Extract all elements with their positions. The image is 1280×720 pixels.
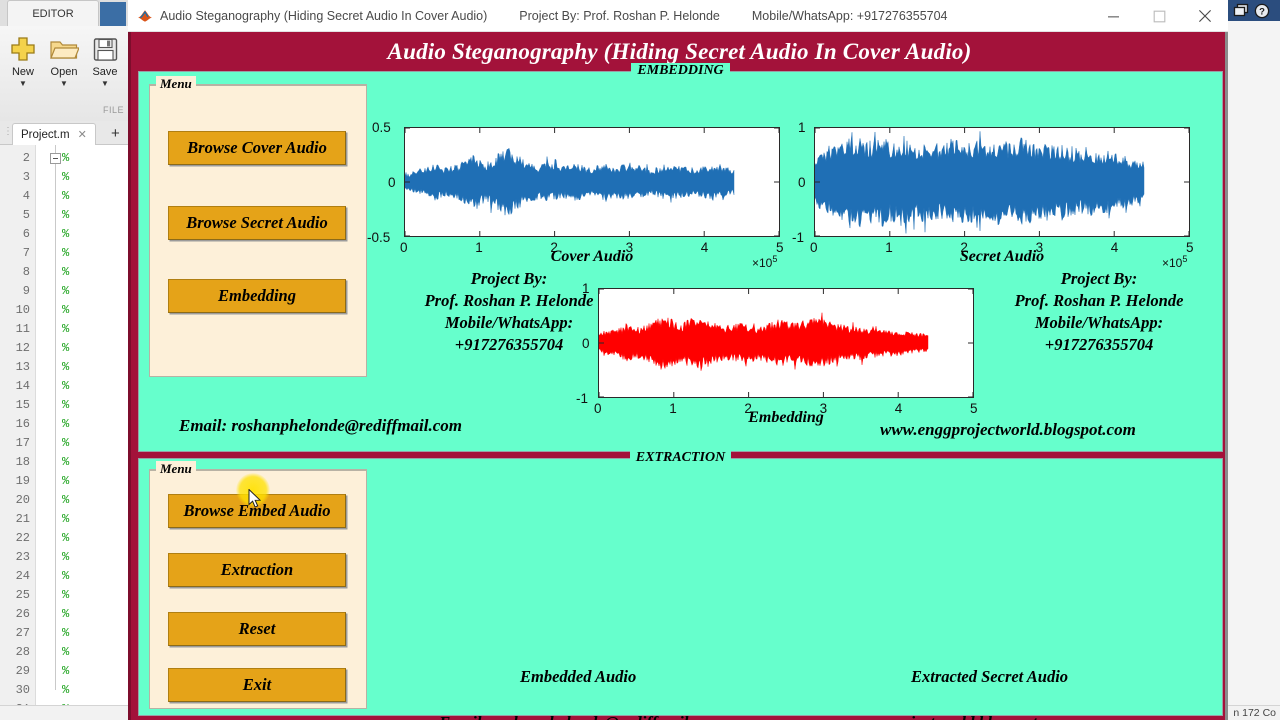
window-title-contact: Mobile/WhatsApp: +917276355704 — [752, 9, 948, 23]
line-number: 15 — [0, 396, 30, 415]
line-number: 18 — [0, 453, 30, 472]
comment-glyph: % — [62, 681, 69, 700]
browse-cover-audio-label: Browse Cover Audio — [187, 138, 327, 158]
comment-glyph: % — [62, 358, 69, 377]
line-number: 23 — [0, 548, 30, 567]
code-line: 3% — [0, 168, 130, 187]
comment-glyph: % — [62, 339, 69, 358]
ribbon-open-label: Open — [43, 66, 85, 79]
window-titlebar[interactable]: Audio Steganography (Hiding Secret Audio… — [128, 0, 1228, 32]
line-number: 24 — [0, 567, 30, 586]
comment-glyph: % — [62, 263, 69, 282]
secret-audio-title: Secret Audio — [814, 248, 1190, 266]
ribbon-tab-accent — [100, 2, 126, 26]
comment-glyph: % — [62, 301, 69, 320]
credit-block-left: Project By: Prof. Roshan P. Helonde Mobi… — [379, 268, 639, 356]
ide-right-rail — [1223, 21, 1280, 705]
window-chrome-strip: ? — [1223, 0, 1280, 21]
credit-block-right: Project By: Prof. Roshan P. Helonde Mobi… — [969, 268, 1229, 356]
credit-left-line-2: Prof. Roshan P. Helonde — [379, 290, 639, 312]
embedding-button[interactable]: Embedding — [168, 279, 346, 313]
extraction-menu-label: Menu — [156, 461, 196, 477]
comment-glyph: % — [62, 225, 69, 244]
chevron-down-icon[interactable]: ▼ — [2, 79, 44, 88]
matlab-icon — [137, 8, 153, 24]
embedding-menu-box: Menu Browse Cover Audio Browse Secret Au… — [149, 84, 367, 377]
reset-button[interactable]: Reset — [168, 612, 346, 646]
document-tab-label: Project.m — [21, 129, 70, 141]
panel-extraction: EXTRACTION Menu Browse Embed Audio Extra… — [138, 458, 1223, 716]
comment-glyph: % — [62, 491, 69, 510]
secret-ytick-mid: 0 — [798, 175, 806, 190]
comment-glyph: % — [62, 472, 69, 491]
line-number: 4 — [0, 187, 30, 206]
exit-button-label: Exit — [243, 675, 271, 695]
waveform-plot — [599, 289, 973, 397]
close-icon[interactable] — [1182, 0, 1228, 32]
chevron-down-icon[interactable]: ▼ — [84, 79, 126, 88]
reset-button-label: Reset — [239, 619, 276, 639]
browse-secret-audio-label: Browse Secret Audio — [186, 213, 327, 233]
line-number: 27 — [0, 624, 30, 643]
comment-glyph: % — [62, 434, 69, 453]
line-number: 7 — [0, 244, 30, 263]
line-number: 29 — [0, 662, 30, 681]
line-number: 16 — [0, 415, 30, 434]
cover-ytick-top: 0.5 — [372, 120, 391, 135]
embedding-menu-label: Menu — [156, 76, 196, 92]
line-number: 8 — [0, 263, 30, 282]
statusbar-text: n 172 Co — [1233, 707, 1276, 719]
ribbon-new-button[interactable]: New ▼ — [2, 32, 44, 88]
fold-toggle-icon[interactable] — [50, 153, 61, 164]
comment-glyph: % — [62, 187, 69, 206]
comment-glyph: % — [62, 168, 69, 187]
extraction-website: www.enggprojectworld.blogspot.com — [815, 713, 1071, 720]
window-controls — [1090, 0, 1228, 32]
cover-ytick-mid: 0 — [388, 175, 396, 190]
comment-glyph: % — [62, 453, 69, 472]
line-number: 11 — [0, 320, 30, 339]
browse-secret-audio-button[interactable]: Browse Secret Audio — [168, 206, 346, 240]
cover-audio-title: Cover Audio — [404, 248, 780, 266]
line-number: 22 — [0, 529, 30, 548]
line-number: 30 — [0, 681, 30, 700]
secret-ytick-top: 1 — [798, 120, 806, 135]
embedding-email: Email: roshanphelonde@rediffmail.com — [179, 416, 462, 436]
embedded-audio-label: Embedded Audio — [520, 667, 636, 687]
comment-glyph: % — [62, 567, 69, 586]
ribbon-group-label: FILE — [0, 105, 124, 115]
comment-glyph: % — [62, 415, 69, 434]
ribbon-new-label: New — [2, 66, 44, 79]
restore-window-icon[interactable] — [1233, 3, 1250, 18]
comment-glyph: % — [62, 643, 69, 662]
code-line: 17% — [0, 434, 130, 453]
comment-glyph: % — [62, 282, 69, 301]
chevron-down-icon[interactable]: ▼ — [43, 79, 85, 88]
ribbon-open-button[interactable]: Open ▼ — [43, 32, 85, 88]
panel-extraction-title: EXTRACTION — [139, 450, 1222, 466]
maximize-icon[interactable] — [1136, 0, 1182, 32]
line-number: 25 — [0, 586, 30, 605]
comment-glyph: % — [62, 548, 69, 567]
chart-cover-audio — [404, 127, 780, 237]
line-number: 10 — [0, 301, 30, 320]
code-line: 8% — [0, 263, 130, 282]
line-number: 9 — [0, 282, 30, 301]
comment-glyph: % — [62, 320, 69, 339]
ribbon-save-button[interactable]: Save ▼ — [84, 32, 126, 88]
figure-body: Audio Steganography (Hiding Secret Audio… — [128, 32, 1228, 720]
code-line: 9% — [0, 282, 130, 301]
line-number: 6 — [0, 225, 30, 244]
extraction-menu-box: Menu Browse Embed Audio Extraction Reset… — [149, 469, 367, 709]
browse-embed-audio-label: Browse Embed Audio — [184, 501, 331, 521]
page-title: Audio Steganography (Hiding Secret Audio… — [388, 39, 972, 65]
extracted-secret-audio-label: Extracted Secret Audio — [911, 667, 1068, 687]
credit-right-line-1: Project By: — [969, 268, 1229, 290]
plus-icon — [2, 32, 44, 66]
line-number: 28 — [0, 643, 30, 662]
cover-ytick-bot: -0.5 — [367, 230, 390, 245]
chart-embedding — [598, 288, 974, 398]
code-line: 16% — [0, 415, 130, 434]
code-line: 18% — [0, 453, 130, 472]
code-line: 5% — [0, 206, 130, 225]
embed-ytick-bot: -1 — [576, 391, 588, 406]
waveform-plot — [815, 128, 1189, 236]
window-title: Audio Steganography (Hiding Secret Audio… — [160, 9, 487, 23]
code-line: 12% — [0, 339, 130, 358]
waveform-plot — [405, 128, 779, 236]
code-line: 25% — [0, 586, 130, 605]
browse-embed-audio-button[interactable]: Browse Embed Audio — [168, 494, 346, 528]
code-line: 26% — [0, 605, 130, 624]
comment-glyph: % — [62, 624, 69, 643]
code-line: 23% — [0, 548, 130, 567]
code-line: 6% — [0, 225, 130, 244]
tab-editor-label: EDITOR — [32, 8, 73, 20]
code-line: 15% — [0, 396, 130, 415]
panel-embedding-title: EMBEDDING — [139, 63, 1222, 79]
window-title-author: Project By: Prof. Roshan P. Helonde — [519, 9, 720, 23]
minimize-icon[interactable] — [1090, 0, 1136, 32]
cover-x-exponent: ×105 — [752, 254, 777, 270]
code-line: 20% — [0, 491, 130, 510]
credit-right-line-3: Mobile/WhatsApp: — [969, 312, 1229, 334]
panel-embedding: EMBEDDING Menu Browse Cover Audio Browse… — [138, 71, 1223, 452]
code-line: 19% — [0, 472, 130, 491]
svg-text:?: ? — [1259, 6, 1265, 17]
line-number: 5 — [0, 206, 30, 225]
comment-glyph: % — [62, 529, 69, 548]
comment-glyph: % — [62, 377, 69, 396]
chart-secret-audio — [814, 127, 1190, 237]
credit-right-line-4: +917276355704 — [969, 334, 1229, 356]
extraction-button[interactable]: Extraction — [168, 553, 346, 587]
folder-icon — [43, 32, 85, 66]
line-number: 12 — [0, 339, 30, 358]
line-number: 17 — [0, 434, 30, 453]
code-line: 27% — [0, 624, 130, 643]
document-tab-project-m[interactable]: Project.m ✕ — [12, 123, 96, 145]
extraction-button-label: Extraction — [221, 560, 293, 580]
embedding-website: www.enggprojectworld.blogspot.com — [880, 420, 1136, 440]
tab-editor[interactable]: EDITOR — [7, 0, 99, 26]
browse-cover-audio-button[interactable]: Browse Cover Audio — [168, 131, 346, 165]
code-line: 10% — [0, 301, 130, 320]
code-line: 11% — [0, 320, 130, 339]
help-icon[interactable]: ? — [1254, 3, 1270, 19]
line-number: 13 — [0, 358, 30, 377]
close-icon[interactable]: ✕ — [78, 128, 87, 141]
credit-left-line-4: +917276355704 — [379, 334, 639, 356]
comment-glyph: % — [62, 396, 69, 415]
line-number: 2 — [0, 149, 30, 168]
comment-glyph: % — [62, 605, 69, 624]
embedding-button-label: Embedding — [218, 286, 296, 306]
code-line: 2% — [0, 149, 130, 168]
code-line: 22% — [0, 529, 130, 548]
screen-root: EDITOR New ▼ — [0, 0, 1280, 720]
comment-glyph: % — [62, 206, 69, 225]
comment-glyph: % — [62, 662, 69, 681]
code-line: 30% — [0, 681, 130, 700]
credit-left-line-3: Mobile/WhatsApp: — [379, 312, 639, 334]
comment-glyph: % — [62, 586, 69, 605]
code-line: 24% — [0, 567, 130, 586]
extraction-email: Email: roshanphelonde@rediffmail.com — [439, 713, 722, 720]
code-line: 13% — [0, 358, 130, 377]
code-line: 28% — [0, 643, 130, 662]
code-line: 29% — [0, 662, 130, 681]
comment-glyph: % — [62, 510, 69, 529]
add-tab-icon[interactable]: + — [111, 125, 120, 142]
ribbon-save-label: Save — [84, 66, 126, 79]
credit-left-line-1: Project By: — [379, 268, 639, 290]
exit-button[interactable]: Exit — [168, 668, 346, 702]
floppy-disk-icon — [84, 32, 126, 66]
application-window: Audio Steganography (Hiding Secret Audio… — [128, 0, 1228, 720]
credit-right-line-2: Prof. Roshan P. Helonde — [969, 290, 1229, 312]
code-line: 4% — [0, 187, 130, 206]
line-number: 3 — [0, 168, 30, 187]
code-line: 21% — [0, 510, 130, 529]
line-number: 19 — [0, 472, 30, 491]
code-line: 7% — [0, 244, 130, 263]
code-line: 14% — [0, 377, 130, 396]
figure-red-frame: Audio Steganography (Hiding Secret Audio… — [128, 32, 1225, 720]
line-number: 21 — [0, 510, 30, 529]
secret-ytick-bot: -1 — [792, 230, 804, 245]
line-number: 26 — [0, 605, 30, 624]
ribbon-file-group: New ▼ Open ▼ — [0, 26, 130, 121]
comment-glyph: % — [62, 244, 69, 263]
line-number: 14 — [0, 377, 30, 396]
line-number: 20 — [0, 491, 30, 510]
comment-glyph: % — [62, 149, 69, 168]
